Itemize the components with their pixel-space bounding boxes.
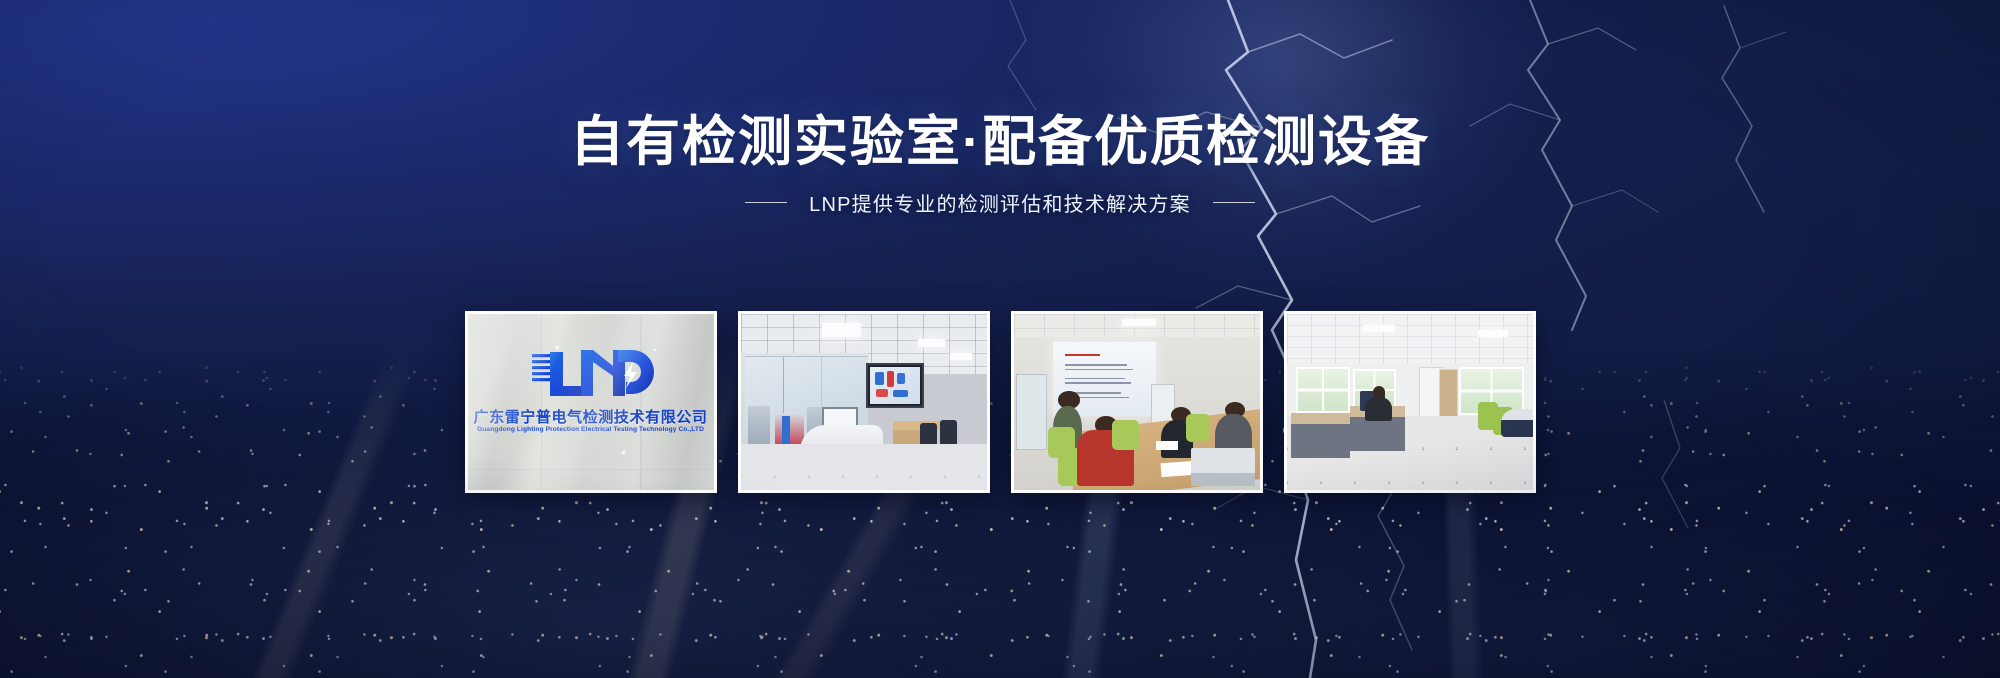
hero-banner: 自有检测实验室·配备优质检测设备 LNP提供专业的检测评估和技术解决方案 <box>0 0 2000 678</box>
vignette-overlay <box>0 0 2000 678</box>
